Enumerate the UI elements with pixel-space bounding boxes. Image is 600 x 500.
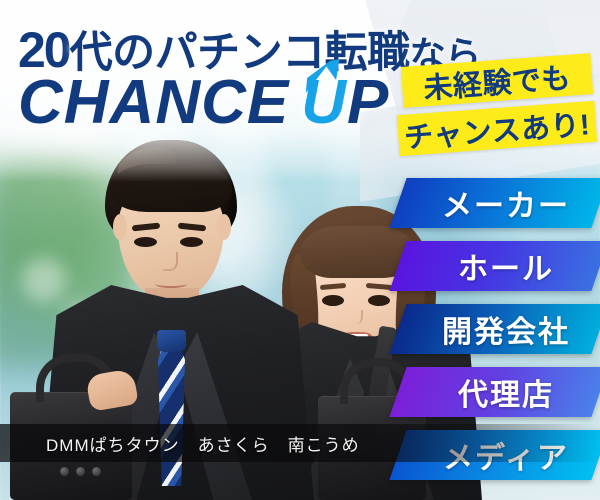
category-label: 代理店 [444,370,554,414]
stud [76,467,85,476]
category-label: ホール [444,244,554,288]
logo-word-up: UP [301,72,389,134]
woman-nose [350,310,363,324]
man-eye-left [134,237,157,247]
man-eye-right [180,237,203,247]
credit-text: DMMぱちタウン あさくら 南こうめ [0,431,360,456]
category-label: 開発会社 [428,307,570,351]
man-ear-left [113,214,127,240]
stud [92,467,101,476]
chance-up-logo: CHANCE UP [18,72,389,134]
briefcase-studs [60,467,101,476]
advertisement-banner[interactable]: 20代のパチンコ転職なら CHANCE UP 未経験でも チャンスあり! メーカ… [0,0,600,500]
category-button-agency[interactable]: 代理店 [389,367,600,417]
category-button-maker[interactable]: メーカー [389,178,600,228]
category-button-hall[interactable]: ホール [389,241,600,291]
logo-letter-p: P [347,68,389,137]
category-label: メーカー [428,181,570,225]
woman-eye-left [322,295,344,306]
category-button-developer[interactable]: 開発会社 [389,304,600,354]
man-necktie-knot [157,330,186,352]
stud [60,467,69,476]
man-necktie [158,336,185,486]
man-nose [163,252,178,271]
man-ear-right [217,214,231,240]
logo-word-chance: CHANCE [18,72,289,134]
man-mouth [155,280,187,288]
credit-bar: DMMぱちタウン あさくら 南こうめ [0,424,600,462]
woman-eye-right [368,295,390,306]
